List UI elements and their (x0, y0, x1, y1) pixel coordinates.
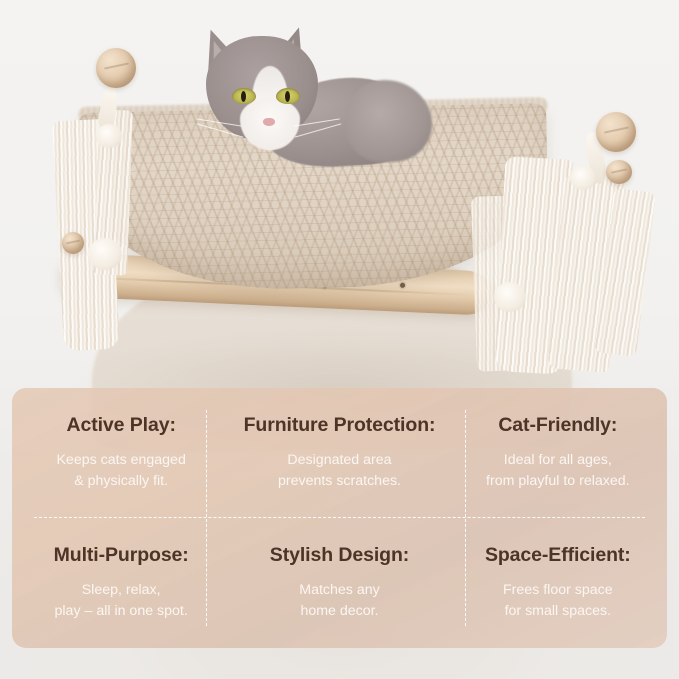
cat-body-fluff (346, 80, 432, 162)
cat (196, 22, 424, 162)
feature-title: Furniture Protection: (244, 414, 436, 437)
feature-line-2: home decor. (300, 603, 378, 619)
wooden-knob-lower-right (606, 160, 632, 184)
feature-cell-multi-purpose: Multi-Purpose: Sleep, relax,play – all i… (12, 518, 230, 648)
feature-line-1: Designated area (287, 452, 391, 468)
cat-eye-left (232, 88, 256, 104)
cat-eye-right (276, 88, 300, 104)
feature-title: Multi-Purpose: (54, 544, 189, 567)
feature-line-1: Sleep, relax, (82, 582, 161, 598)
feature-description: Frees floor spacefor small spaces. (503, 580, 613, 621)
feature-title: Space-Efficient: (485, 544, 631, 567)
cat-head (206, 36, 318, 140)
feature-cell-active-play: Active Play: Keeps cats engaged& physica… (12, 388, 230, 518)
feature-cell-stylish-design: Stylish Design: Matches anyhome decor. (230, 518, 448, 648)
tassel-puff-left (88, 238, 122, 270)
feature-description: Keeps cats engaged& physically fit. (56, 450, 185, 491)
feature-grid: Active Play: Keeps cats engaged& physica… (12, 388, 667, 648)
tassel-puff-right (494, 282, 526, 312)
feature-cell-cat-friendly: Cat-Friendly: Ideal for all ages,from pl… (449, 388, 667, 518)
wooden-knob-lower-left (62, 232, 84, 254)
feature-line-1: Matches any (299, 582, 379, 598)
feature-title: Active Play: (66, 414, 175, 437)
feature-title: Cat-Friendly: (498, 414, 617, 437)
wooden-knob-top-right (596, 112, 636, 152)
vertical-divider (465, 410, 466, 626)
feature-description: Matches anyhome decor. (299, 580, 379, 621)
product-feature-image: Active Play: Keeps cats engaged& physica… (0, 0, 679, 679)
feature-cell-furniture-protection: Furniture Protection: Designated areapre… (230, 388, 448, 518)
feature-description: Designated areaprevents scratches. (278, 450, 401, 491)
feature-panel: Active Play: Keeps cats engaged& physica… (12, 388, 667, 648)
tassel-puff-left-upper (96, 124, 122, 148)
tassel-puff-right-upper (570, 166, 596, 190)
feature-line-1: Frees floor space (503, 582, 613, 598)
feature-title: Stylish Design: (270, 544, 409, 567)
feature-line-1: Ideal for all ages, (504, 452, 612, 468)
wooden-knob-top-left (96, 48, 136, 88)
feature-cell-space-efficient: Space-Efficient: Frees floor spacefor sm… (449, 518, 667, 648)
feature-description: Sleep, relax,play – all in one spot. (55, 580, 188, 621)
cat-nose (263, 118, 275, 126)
cat-pupil-left (241, 91, 246, 102)
feature-line-2: play – all in one spot. (55, 603, 188, 619)
feature-line-2: prevents scratches. (278, 473, 401, 489)
vertical-divider (206, 410, 207, 626)
feature-line-2: from playful to relaxed. (486, 473, 630, 489)
cat-pupil-right (285, 91, 290, 102)
feature-line-2: & physically fit. (74, 473, 168, 489)
feature-description: Ideal for all ages,from playful to relax… (486, 450, 630, 491)
screw-hole (400, 283, 405, 288)
feature-line-2: for small spaces. (505, 603, 611, 619)
feature-line-1: Keeps cats engaged (56, 452, 185, 468)
horizontal-divider (34, 517, 645, 518)
